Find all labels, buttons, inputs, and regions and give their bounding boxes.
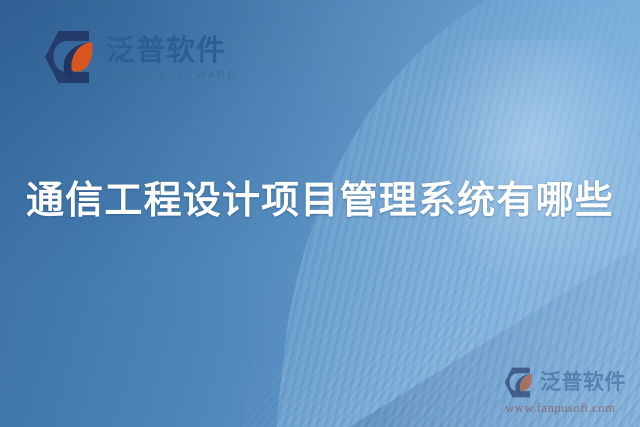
promo-banner: 泛普软件 FANPU SOFTWARE 通信工程设计项目管理系统有哪些 泛普软件… xyxy=(0,0,640,427)
secondary-tower xyxy=(229,205,501,427)
watermark-brand-row: 泛普软件 xyxy=(504,367,626,398)
watermark-url: www.fanpusoft.com xyxy=(505,401,615,415)
brand-name-cn: 泛普软件 xyxy=(106,35,237,66)
brand-name-en: FANPU SOFTWARE xyxy=(106,69,237,82)
banner-headline: 通信工程设计项目管理系统有哪些 xyxy=(0,176,640,224)
brand-logo[interactable]: 泛普软件 FANPU SOFTWARE xyxy=(44,30,237,84)
brand-wordmark: 泛普软件 FANPU SOFTWARE xyxy=(106,33,237,81)
watermark-brand-name: 泛普软件 xyxy=(540,372,626,393)
site-watermark: 泛普软件 www.fanpusoft.com xyxy=(504,367,626,415)
fanpu-hexagon-logo-icon xyxy=(504,367,534,398)
fanpu-hexagon-logo-icon xyxy=(44,30,96,84)
